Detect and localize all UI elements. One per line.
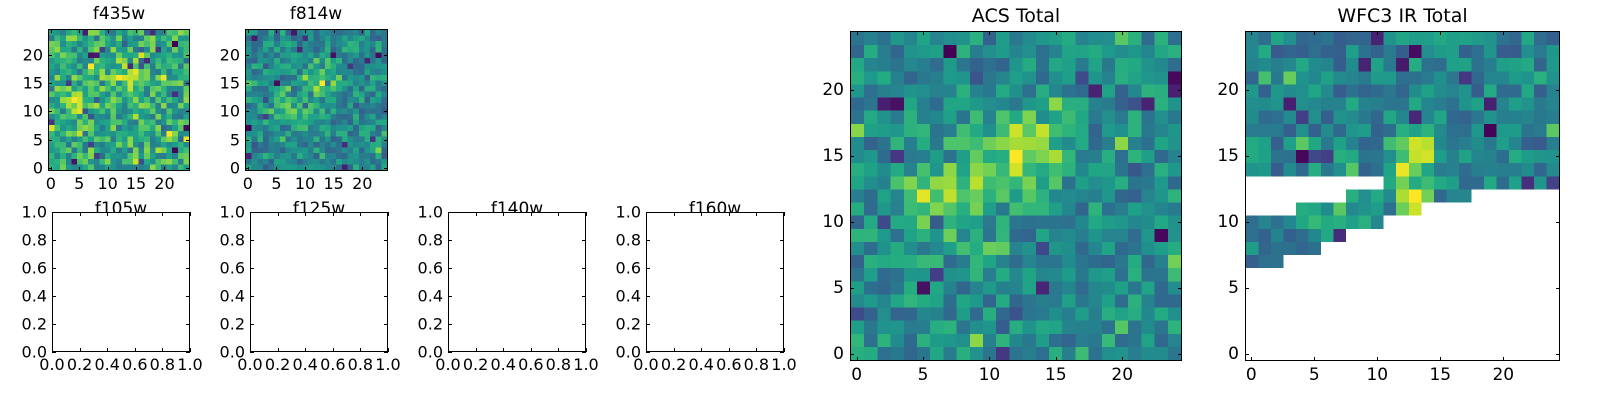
y-tick-mark [250, 268, 254, 269]
x-tick-mark [162, 348, 163, 352]
y-tick-label: 0.8 [0, 231, 47, 250]
x-tick-mark [334, 167, 335, 171]
y-tick-mark-right [186, 111, 190, 112]
y-tick-mark-right [186, 268, 190, 269]
y-tick-mark-right [1556, 90, 1560, 91]
y-tick-mark [448, 324, 452, 325]
y-tick-label: 10 [197, 102, 240, 121]
x-tick-mark-top [558, 212, 559, 216]
y-tick-label: 0.0 [594, 343, 641, 362]
axes-f814w [245, 29, 388, 171]
x-tick-mark [558, 348, 559, 352]
panel-acs-total: ACS Total 0510152005101520 [800, 0, 1200, 400]
x-tick-mark [586, 348, 587, 352]
x-tick-mark-top [1122, 31, 1123, 35]
y-tick-label: 5 [197, 130, 240, 149]
x-tick-mark-top [51, 29, 52, 33]
y-tick-mark [646, 212, 650, 213]
y-tick-mark-right [780, 296, 784, 297]
y-tick-mark-right [1178, 156, 1182, 157]
y-tick-mark-right [186, 352, 190, 353]
y-tick-label: 20 [800, 80, 844, 100]
y-tick-mark [850, 90, 854, 91]
y-tick-label: 0 [1195, 344, 1239, 364]
x-tick-mark [701, 348, 702, 352]
y-tick-mark-right [582, 352, 586, 353]
y-tick-mark [646, 352, 650, 353]
y-tick-label: 0.2 [198, 315, 245, 334]
y-tick-mark [48, 83, 52, 84]
x-tick-mark [1314, 357, 1315, 361]
x-tick-label: 10 [1366, 365, 1388, 385]
x-tick-mark [1440, 357, 1441, 361]
x-tick-mark-top [135, 212, 136, 216]
x-tick-mark [108, 167, 109, 171]
y-tick-mark [245, 55, 249, 56]
y-tick-mark [850, 156, 854, 157]
x-tick-mark [107, 348, 108, 352]
x-tick-mark-top [674, 212, 675, 216]
y-tick-mark [52, 324, 56, 325]
y-tick-label: 10 [1195, 212, 1239, 232]
x-tick-mark-top [388, 212, 389, 216]
y-tick-label: 1.0 [594, 203, 641, 222]
x-tick-mark-top [333, 212, 334, 216]
y-tick-mark [250, 240, 254, 241]
y-tick-mark [1245, 156, 1249, 157]
x-tick-mark-top [1056, 31, 1057, 35]
axes-f125w [250, 212, 388, 352]
x-tick-mark-top [1377, 31, 1378, 35]
y-tick-label: 20 [197, 45, 240, 64]
y-tick-mark [52, 212, 56, 213]
x-tick-mark-top [701, 212, 702, 216]
x-tick-mark-top [362, 29, 363, 33]
y-tick-mark-right [186, 83, 190, 84]
y-tick-mark [52, 352, 56, 353]
x-tick-label: 5 [918, 365, 929, 385]
y-tick-label: 20 [1195, 80, 1239, 100]
y-tick-mark [48, 168, 52, 169]
x-tick-mark-top [1503, 31, 1504, 35]
y-tick-label: 0.4 [396, 287, 443, 306]
x-tick-label: 0.6 [716, 355, 741, 374]
y-tick-mark [1245, 354, 1249, 355]
x-tick-label: 15 [1429, 365, 1451, 385]
x-tick-label: 0.2 [67, 355, 92, 374]
y-tick-mark-right [384, 111, 388, 112]
x-tick-mark-top [784, 212, 785, 216]
y-tick-mark-right [186, 240, 190, 241]
y-tick-mark-right [1178, 288, 1182, 289]
x-tick-mark-top [136, 29, 137, 33]
x-tick-label: 5 [1309, 365, 1320, 385]
y-tick-mark-right [384, 55, 388, 56]
x-tick-mark-top [108, 29, 109, 33]
x-tick-label: 0.6 [518, 355, 543, 374]
x-tick-label: 0.4 [94, 355, 119, 374]
panel-title-f814w: f814w [197, 4, 435, 24]
x-tick-mark [729, 348, 730, 352]
x-tick-mark [305, 348, 306, 352]
y-tick-mark-right [780, 240, 784, 241]
y-tick-mark [448, 212, 452, 213]
matplotlib-figure: f435w 0510152005101520 f814w 05101520051… [0, 0, 1600, 400]
y-tick-mark-right [186, 296, 190, 297]
y-tick-mark-right [384, 83, 388, 84]
y-tick-mark-right [186, 324, 190, 325]
x-tick-mark-top [1251, 31, 1252, 35]
axes-acs-total [850, 31, 1182, 361]
y-tick-label: 5 [0, 130, 43, 149]
y-tick-label: 0.2 [594, 315, 641, 334]
y-tick-label: 15 [800, 146, 844, 166]
x-tick-mark [923, 357, 924, 361]
y-tick-mark [850, 354, 854, 355]
x-tick-mark-top [503, 212, 504, 216]
x-tick-label: 0.4 [490, 355, 515, 374]
y-tick-mark-right [384, 168, 388, 169]
y-tick-label: 15 [0, 73, 43, 92]
y-tick-mark [48, 111, 52, 112]
y-tick-mark [250, 352, 254, 353]
y-tick-mark-right [384, 268, 388, 269]
x-tick-mark-top [276, 29, 277, 33]
x-tick-mark [784, 348, 785, 352]
y-tick-label: 0.0 [198, 343, 245, 362]
y-tick-mark [850, 222, 854, 223]
x-tick-mark-top [190, 212, 191, 216]
x-tick-mark-top [1440, 31, 1441, 35]
x-tick-mark-top [80, 212, 81, 216]
x-tick-mark-top [923, 31, 924, 35]
x-tick-label: 20 [1111, 365, 1133, 385]
y-tick-mark-right [384, 212, 388, 213]
y-tick-label: 0.8 [198, 231, 245, 250]
y-tick-label: 1.0 [0, 203, 47, 222]
x-tick-label: 0.6 [122, 355, 147, 374]
x-tick-mark-top [1314, 31, 1315, 35]
x-tick-label: 0.2 [265, 355, 290, 374]
x-tick-mark [278, 348, 279, 352]
y-tick-mark-right [186, 140, 190, 141]
x-tick-mark-top [278, 212, 279, 216]
x-tick-label: 0.4 [292, 355, 317, 374]
x-tick-mark-top [248, 29, 249, 33]
y-tick-label: 0.4 [594, 287, 641, 306]
x-tick-mark-top [857, 31, 858, 35]
axes-f435w [48, 29, 190, 171]
y-tick-mark [52, 268, 56, 269]
y-tick-label: 0.8 [396, 231, 443, 250]
y-tick-mark [1245, 90, 1249, 91]
panel-f160w: f160w 0.00.20.40.60.81.00.00.20.40.60.81… [594, 183, 834, 383]
x-tick-mark [360, 348, 361, 352]
heatmap-canvas-wfc3-ir-total [1246, 32, 1559, 360]
x-tick-mark [333, 348, 334, 352]
y-tick-mark-right [582, 240, 586, 241]
y-tick-label: 0.0 [396, 343, 443, 362]
x-tick-mark [674, 348, 675, 352]
y-tick-mark [448, 296, 452, 297]
x-tick-mark [531, 348, 532, 352]
x-tick-mark [190, 348, 191, 352]
x-tick-label: 0.2 [661, 355, 686, 374]
x-tick-mark [989, 357, 990, 361]
axes-f160w [646, 212, 784, 352]
y-tick-mark [1245, 288, 1249, 289]
y-tick-mark [448, 240, 452, 241]
x-tick-label: 0.8 [150, 355, 175, 374]
y-tick-mark-right [582, 324, 586, 325]
x-tick-mark [1056, 357, 1057, 361]
x-tick-label: 0.2 [463, 355, 488, 374]
x-tick-label: 0.8 [744, 355, 769, 374]
y-tick-mark-right [1178, 90, 1182, 91]
x-tick-label: 0.4 [688, 355, 713, 374]
y-tick-label: 0 [197, 159, 240, 178]
y-tick-label: 15 [197, 73, 240, 92]
x-tick-label: 0.6 [320, 355, 345, 374]
y-tick-label: 0.4 [0, 287, 47, 306]
x-tick-mark [362, 167, 363, 171]
panel-f814w: f814w 0510152005101520 [197, 0, 437, 190]
x-tick-mark [136, 167, 137, 171]
x-tick-mark-top [531, 212, 532, 216]
x-tick-label: 1.0 [771, 355, 796, 374]
x-tick-mark [80, 348, 81, 352]
y-tick-mark [250, 212, 254, 213]
y-tick-mark-right [1178, 222, 1182, 223]
axes-f105w [52, 212, 190, 352]
heatmap-canvas-f814w [246, 30, 387, 170]
panel-wfc3-ir-total: WFC3 IR Total 0510152005101520 [1195, 0, 1600, 400]
x-tick-mark [1503, 357, 1504, 361]
x-tick-mark [476, 348, 477, 352]
heatmap-canvas-f435w [49, 30, 189, 170]
y-tick-mark-right [384, 140, 388, 141]
heatmap-canvas-acs-total [851, 32, 1181, 360]
y-tick-mark [52, 240, 56, 241]
y-tick-label: 0.2 [0, 315, 47, 334]
y-tick-mark [1245, 222, 1249, 223]
y-tick-mark-right [780, 212, 784, 213]
x-tick-mark [1251, 357, 1252, 361]
x-tick-mark [305, 167, 306, 171]
x-tick-mark [1122, 357, 1123, 361]
y-tick-mark [646, 240, 650, 241]
x-tick-mark [164, 167, 165, 171]
x-tick-mark-top [164, 29, 165, 33]
y-tick-mark-right [384, 352, 388, 353]
panel-title-wfc3-ir-total: WFC3 IR Total [1245, 5, 1560, 27]
x-tick-label: 0.8 [348, 355, 373, 374]
y-tick-label: 0 [800, 344, 844, 364]
y-tick-label: 0.0 [0, 343, 47, 362]
x-tick-mark-top [360, 212, 361, 216]
y-tick-label: 5 [1195, 278, 1239, 298]
y-tick-label: 0.6 [594, 259, 641, 278]
y-tick-mark-right [582, 268, 586, 269]
y-tick-mark [52, 296, 56, 297]
axes-f140w [448, 212, 586, 352]
y-tick-mark-right [384, 296, 388, 297]
y-tick-label: 1.0 [396, 203, 443, 222]
y-tick-label: 0.4 [198, 287, 245, 306]
y-tick-mark [48, 55, 52, 56]
x-tick-mark [79, 167, 80, 171]
x-tick-mark-top [305, 29, 306, 33]
x-tick-mark-top [334, 29, 335, 33]
x-tick-mark-top [305, 212, 306, 216]
y-tick-mark-right [582, 296, 586, 297]
y-tick-mark [448, 268, 452, 269]
x-tick-mark-top [989, 31, 990, 35]
x-tick-label: 15 [1045, 365, 1067, 385]
x-tick-mark [1377, 357, 1378, 361]
axes-wfc3-ir-total [1245, 31, 1560, 361]
y-tick-mark-right [186, 55, 190, 56]
x-tick-mark [276, 167, 277, 171]
y-tick-label: 0.8 [594, 231, 641, 250]
y-tick-mark [245, 83, 249, 84]
y-tick-mark [250, 324, 254, 325]
y-tick-mark-right [1178, 354, 1182, 355]
x-tick-mark [388, 348, 389, 352]
y-tick-mark-right [1556, 222, 1560, 223]
y-tick-mark [245, 140, 249, 141]
y-tick-label: 20 [0, 45, 43, 64]
x-tick-label: 20 [1492, 365, 1514, 385]
x-tick-mark [135, 348, 136, 352]
x-tick-mark-top [586, 212, 587, 216]
y-tick-mark [646, 324, 650, 325]
y-tick-label: 0.6 [0, 259, 47, 278]
y-tick-label: 15 [1195, 146, 1239, 166]
y-tick-mark-right [1556, 156, 1560, 157]
x-tick-mark-top [107, 212, 108, 216]
y-tick-label: 10 [800, 212, 844, 232]
x-tick-label: 0 [851, 365, 862, 385]
y-tick-mark-right [384, 324, 388, 325]
y-tick-mark [250, 296, 254, 297]
y-tick-label: 0 [0, 159, 43, 178]
y-tick-mark [850, 288, 854, 289]
y-tick-mark-right [186, 212, 190, 213]
y-tick-label: 0.2 [396, 315, 443, 334]
y-tick-mark [646, 268, 650, 269]
panel-title-acs-total: ACS Total [850, 5, 1182, 27]
y-tick-mark [48, 140, 52, 141]
x-tick-mark-top [79, 29, 80, 33]
x-tick-mark-top [162, 212, 163, 216]
y-tick-mark-right [384, 240, 388, 241]
y-tick-mark [245, 168, 249, 169]
x-tick-mark-top [756, 212, 757, 216]
y-tick-label: 0.6 [198, 259, 245, 278]
x-tick-mark [756, 348, 757, 352]
x-tick-mark [857, 357, 858, 361]
x-tick-label: 10 [979, 365, 1001, 385]
y-tick-mark-right [582, 212, 586, 213]
y-tick-label: 1.0 [198, 203, 245, 222]
y-tick-label: 10 [0, 102, 43, 121]
y-tick-mark-right [780, 268, 784, 269]
y-tick-mark [646, 296, 650, 297]
y-tick-label: 5 [800, 278, 844, 298]
y-tick-label: 0.6 [396, 259, 443, 278]
x-tick-label: 0 [1246, 365, 1257, 385]
x-tick-label: 0.8 [546, 355, 571, 374]
y-tick-mark-right [1556, 288, 1560, 289]
y-tick-mark-right [186, 168, 190, 169]
y-tick-mark [448, 352, 452, 353]
y-tick-mark-right [780, 324, 784, 325]
y-tick-mark [245, 111, 249, 112]
y-tick-mark-right [1556, 354, 1560, 355]
x-tick-mark [503, 348, 504, 352]
y-tick-mark-right [780, 352, 784, 353]
x-tick-mark-top [729, 212, 730, 216]
x-tick-mark-top [476, 212, 477, 216]
